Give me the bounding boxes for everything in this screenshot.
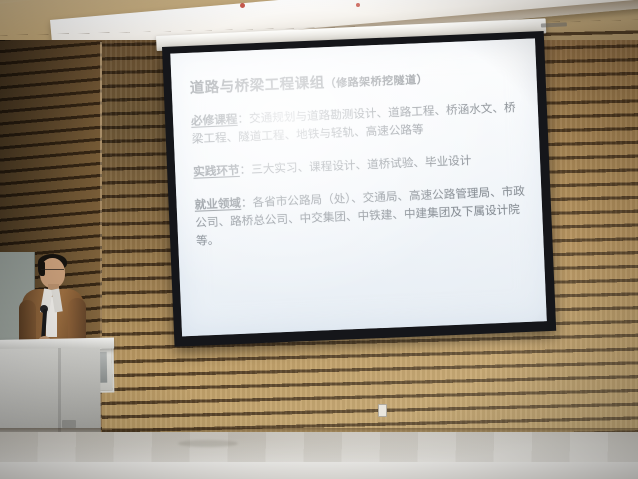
slide-title: 道路与桥梁工程课组（修路架桥挖隧道） xyxy=(189,63,525,98)
paragraph-text: 三大实习、课程设计、道桥试验、毕业设计 xyxy=(251,153,472,176)
slide-title-paren: （修路架桥挖隧道） xyxy=(324,73,428,90)
paragraph-separator: ： xyxy=(237,111,249,125)
projection-screen-frame: 道路与桥梁工程课组（修路架桥挖隧道） 必修课程：交通规划与道路勘测设计、道路工程… xyxy=(162,31,556,347)
wall-marker-dot-icon xyxy=(356,3,360,7)
wall-outlet-icon xyxy=(378,404,387,417)
slide-title-text: 道路与桥梁工程课组 xyxy=(189,75,325,97)
projection-screen-surface: 道路与桥梁工程课组（修路架桥挖隧道） 必修课程：交通规划与道路勘测设计、道路工程… xyxy=(170,38,547,336)
slide-content: 道路与桥梁工程课组（修路架桥挖隧道） 必修课程：交通规划与道路勘测设计、道路工程… xyxy=(189,63,531,251)
paragraph-text: 各省市公路局（处）、交通局、高速公路管理局、市政公司、路桥总公司、中交集团、中铁… xyxy=(195,184,525,248)
slide-paragraph-practice: 实践环节：三大实习、课程设计、道桥试验、毕业设计 xyxy=(193,150,528,182)
slide-paragraph-employment: 就业领域：各省市公路局（处）、交通局、高速公路管理局、市政公司、路桥总公司、中交… xyxy=(194,183,531,251)
floor-scuff-mark xyxy=(178,440,238,447)
paragraph-separator: ： xyxy=(239,162,251,176)
paragraph-lead-label: 就业领域 xyxy=(194,196,241,212)
stage-floor-edge xyxy=(0,462,638,479)
paragraph-lead-label: 实践环节 xyxy=(193,163,240,179)
glasses-icon xyxy=(41,269,64,274)
paragraph-lead-label: 必修课程 xyxy=(191,112,238,128)
podium-badge xyxy=(62,420,76,428)
wall-marker-dot-icon xyxy=(240,3,245,8)
paragraph-separator: ： xyxy=(241,195,253,209)
slide-paragraph-required-courses: 必修课程：交通规划与道路勘测设计、道路工程、桥涵水文、桥梁工程、隧道工程、地铁与… xyxy=(191,99,527,149)
lecture-hall-photo: 道路与桥梁工程课组（修路架桥挖隧道） 必修课程：交通规划与道路勘测设计、道路工程… xyxy=(0,0,638,479)
